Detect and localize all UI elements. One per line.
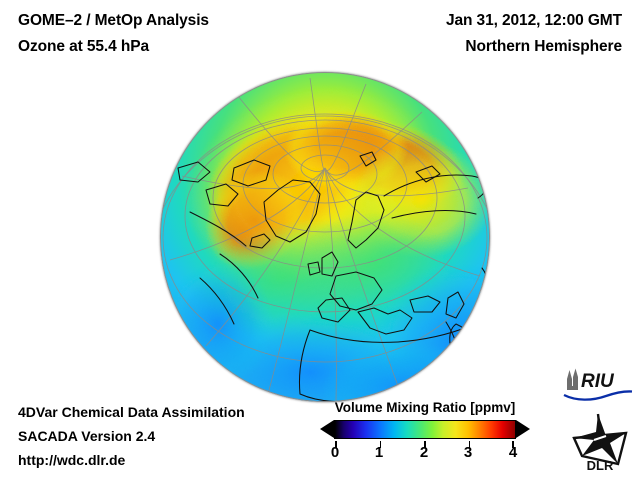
colorbar-label-3: 3 — [464, 444, 472, 461]
riu-swoosh — [564, 391, 632, 399]
page-title: GOME–2 / MetOp Analysis — [18, 12, 209, 30]
page-subtitle: Ozone at 55.4 hPa — [18, 38, 149, 56]
version-label: SACADA Version 2.4 — [18, 428, 155, 444]
colorbar-label-4: 4 — [509, 444, 517, 461]
dlr-logo: DLR — [568, 412, 632, 472]
colorbar-gradient — [335, 421, 515, 438]
website-link[interactable]: http://wdc.dlr.de — [18, 452, 125, 468]
colorbar-extend-max-arrow — [516, 420, 530, 438]
analysis-datetime: Jan 31, 2012, 12:00 GMT — [446, 12, 622, 30]
riu-wordmark: RIU — [581, 371, 615, 392]
ozone-field — [160, 72, 490, 402]
dlr-wordmark: DLR — [587, 458, 614, 473]
colorbar: Volume Mixing Ratio [ppmv] 0 1 2 3 4 — [316, 400, 534, 472]
hemisphere-label: Northern Hemisphere — [465, 38, 622, 56]
colorbar-label-1: 1 — [375, 444, 383, 461]
method-label: 4DVar Chemical Data Assimilation — [18, 404, 245, 420]
colorbar-gradient-box — [334, 420, 516, 439]
riu-logo: RIU — [562, 368, 634, 402]
globe-map — [160, 72, 490, 402]
cathedral-spires-icon — [567, 369, 578, 391]
colorbar-label-0: 0 — [331, 444, 339, 461]
dlr-emblem-icon — [574, 414, 626, 464]
colorbar-extend-min-arrow — [320, 420, 334, 438]
colorbar-label-2: 2 — [420, 444, 428, 461]
colorbar-title: Volume Mixing Ratio [ppmv] — [316, 400, 534, 415]
globe-disc — [160, 72, 490, 402]
